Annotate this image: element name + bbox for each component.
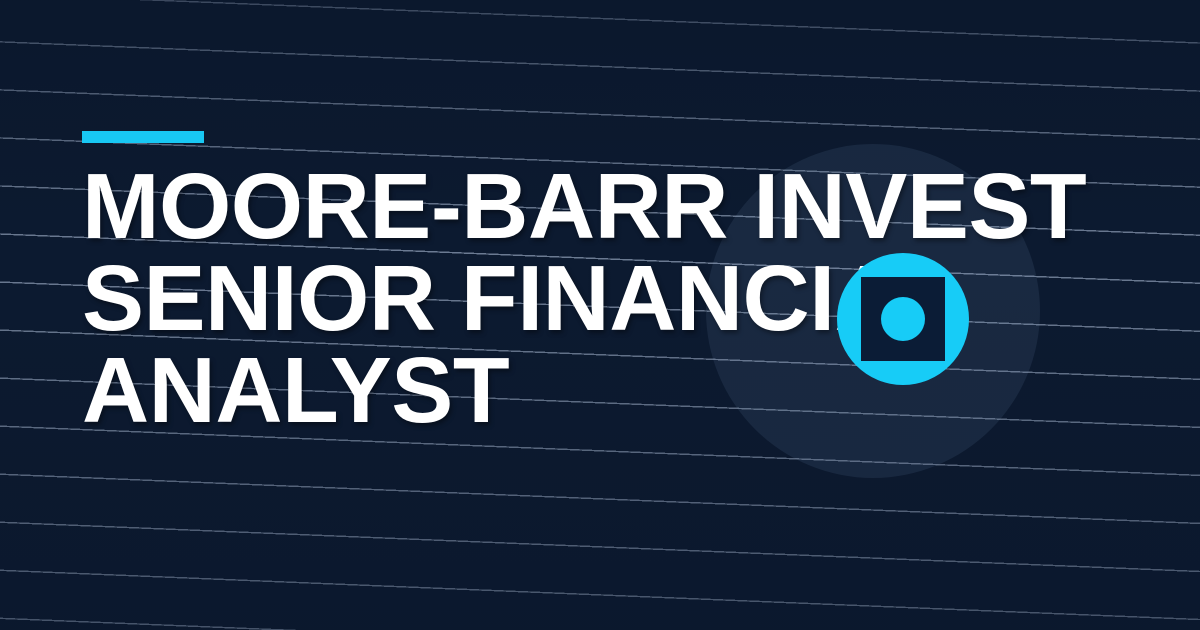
headline-line-1: MOORE-BARR INVEST [82,160,1122,252]
brand-logo-icon [837,253,969,385]
accent-bar [82,131,204,143]
social-share-card: MOORE-BARR INVEST SENIOR FINANCIAL ANALY… [0,0,1200,630]
logo-center-dot [881,297,925,341]
